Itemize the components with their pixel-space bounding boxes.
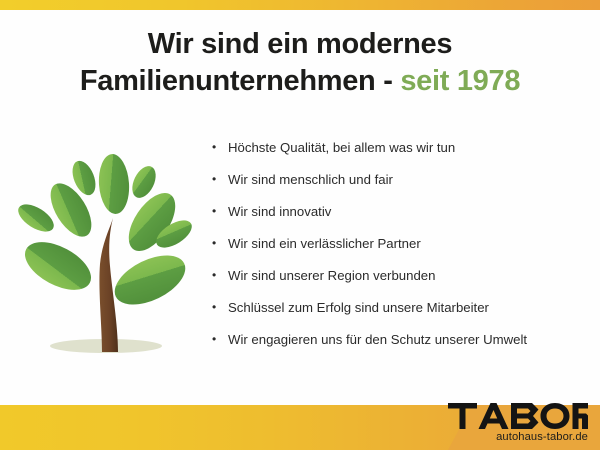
slide-root: Wir sind ein modernes Familienunternehme… bbox=[0, 0, 600, 450]
list-item: Wir sind innovativ bbox=[212, 204, 592, 220]
brand-logo[interactable]: autohaus-tabor.de bbox=[438, 403, 588, 444]
tabor-wordmark-icon bbox=[448, 403, 588, 429]
list-item: Wir engagieren uns für den Schutz unsere… bbox=[212, 332, 592, 348]
value-list: Höchste Qualität, bei allem was wir tun … bbox=[212, 140, 592, 364]
top-accent-bar bbox=[0, 0, 600, 10]
tree-trunk bbox=[99, 218, 118, 352]
headline-accent-year: seit 1978 bbox=[400, 65, 520, 97]
tree-illustration bbox=[14, 150, 194, 370]
list-item: Wir sind unserer Region verbunden bbox=[212, 268, 592, 284]
headline-line-2-main: Familienunternehmen - bbox=[80, 65, 401, 97]
headline-line-2: Familienunternehmen - seit 1978 bbox=[0, 63, 600, 100]
page-title: Wir sind ein modernes Familienunternehme… bbox=[0, 26, 600, 100]
website-url[interactable]: autohaus-tabor.de bbox=[438, 431, 588, 444]
list-item: Wir sind ein verlässlicher Partner bbox=[212, 236, 592, 252]
list-item: Wir sind menschlich und fair bbox=[212, 172, 592, 188]
headline-line-1: Wir sind ein modernes bbox=[0, 26, 600, 63]
list-item: Höchste Qualität, bei allem was wir tun bbox=[212, 140, 592, 156]
list-item: Schlüssel zum Erfolg sind unsere Mitarbe… bbox=[212, 300, 592, 316]
